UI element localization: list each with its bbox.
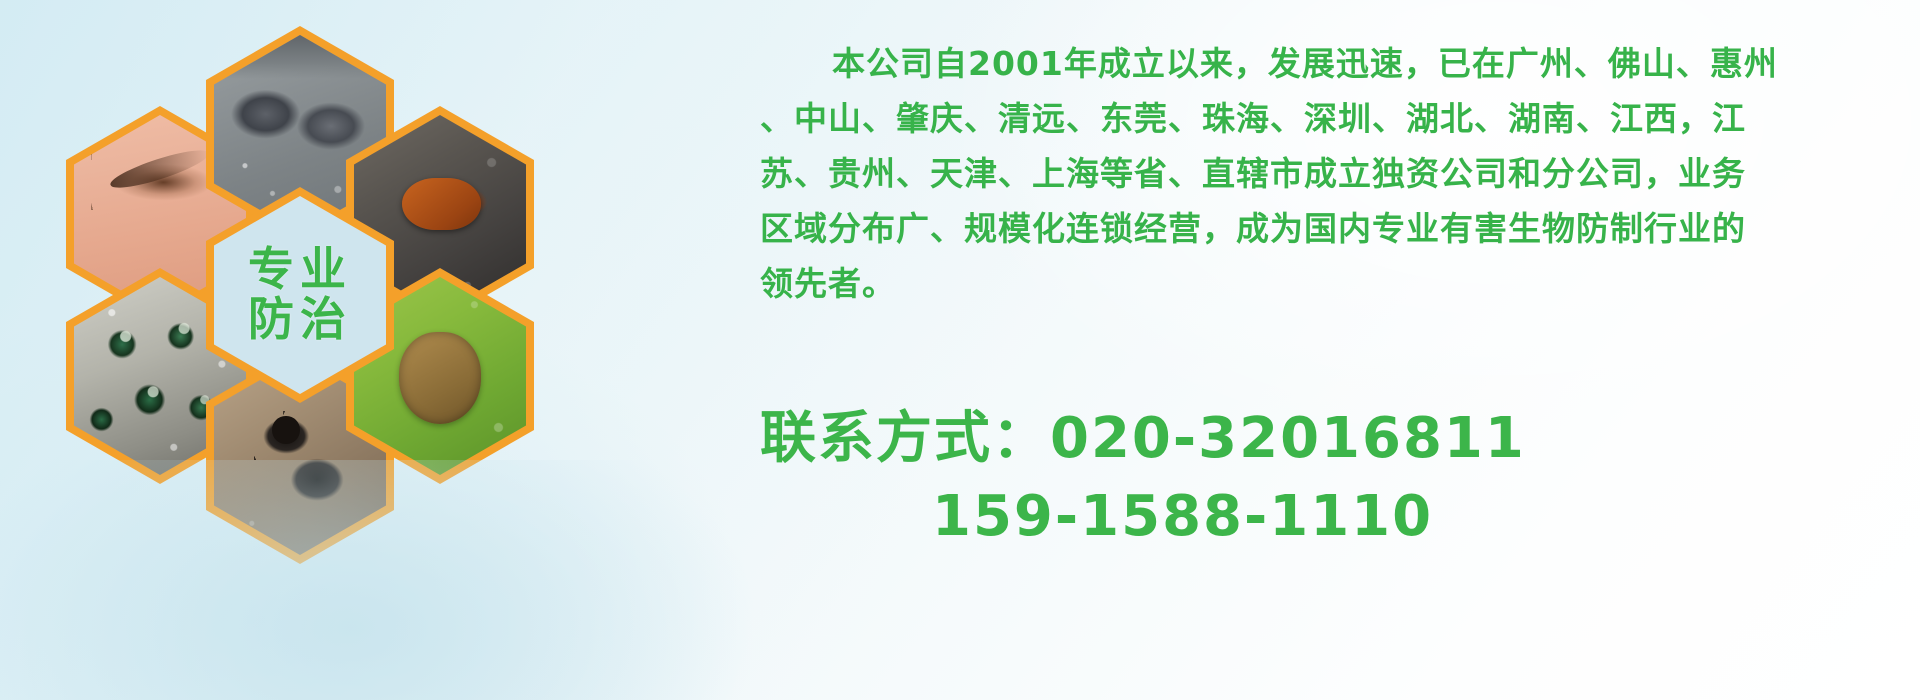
intro-line-1: 本公司自2001年成立以来，发展迅速，已在广州、佛山、惠州 bbox=[760, 36, 1870, 91]
contact-block: 联系方式：020-32016811 159-1588-1110 bbox=[760, 400, 1880, 556]
intro-line-3: 苏、贵州、天津、上海等省、直辖市成立独资公司和分公司，业务 bbox=[760, 146, 1870, 201]
intro-line-5: 领先者。 bbox=[760, 256, 1870, 311]
intro-copy-block: 本公司自2001年成立以来，发展迅速，已在广州、佛山、惠州 、中山、肇庆、清远、… bbox=[760, 36, 1870, 311]
slogan-line-2: 防治 bbox=[248, 295, 352, 345]
slogan-line-1: 专业 bbox=[248, 245, 352, 295]
intro-paragraph: 本公司自2001年成立以来，发展迅速，已在广州、佛山、惠州 、中山、肇庆、清远、… bbox=[760, 36, 1870, 311]
company-intro-banner: 专业 防治 本公司自2001年成立以来，发展迅速，已在广州、佛山、惠州 、中山、… bbox=[0, 0, 1920, 700]
intro-line-2: 、中山、肇庆、清远、东莞、珠海、深圳、湖北、湖南、江西，江 bbox=[760, 91, 1870, 146]
honeycomb-cluster: 专业 防治 bbox=[60, 0, 620, 700]
contact-phone-secondary[interactable]: 159-1588-1110 bbox=[760, 478, 1880, 556]
intro-line-4: 区域分布广、规模化连锁经营，成为国内专业有害生物防制行业的 bbox=[760, 201, 1870, 256]
contact-phone-primary[interactable]: 联系方式：020-32016811 bbox=[760, 400, 1880, 478]
slogan-text: 专业 防治 bbox=[248, 245, 352, 344]
